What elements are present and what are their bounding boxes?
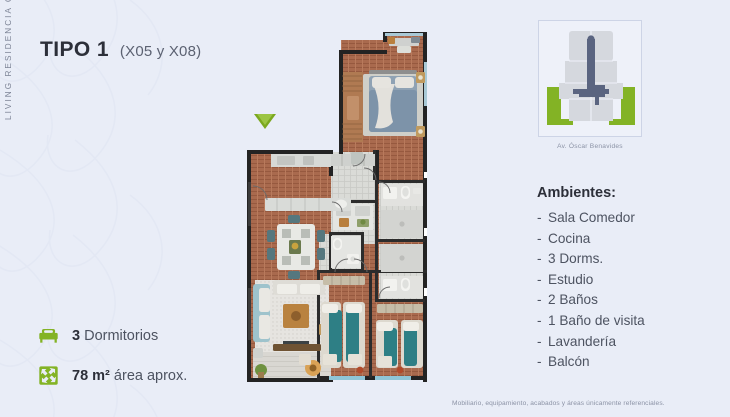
ambientes-list: -Sala Comedor -Cocina -3 Dorms. -Estudio… — [537, 208, 645, 373]
page-title: TIPO 1 (X05 y X08) — [40, 38, 201, 62]
building-footprint-diagram — [543, 25, 639, 133]
ambientes-panel: Ambientes: -Sala Comedor -Cocina -3 Dorm… — [537, 185, 645, 373]
ambientes-item: -3 Dorms. — [537, 249, 645, 270]
feature-area: 78 m² área aprox. — [38, 365, 187, 386]
floor-plan-sheet: LIVING RESIDENCIA CLUB - CERCADO DE LIMA… — [0, 0, 730, 417]
ambientes-item: -1 Baño de visita — [537, 311, 645, 332]
list-dash: - — [537, 249, 548, 270]
feature-bedrooms: 3 Dormitorios — [38, 325, 187, 346]
ambientes-item: -Balcón — [537, 352, 645, 373]
feature-area-text: 78 m² área aprox. — [72, 368, 187, 384]
ambientes-item: -Estudio — [537, 270, 645, 291]
ambientes-item-label: 1 Baño de visita — [548, 313, 645, 328]
disclaimer-text: Mobiliario, equipamiento, acabados y áre… — [452, 400, 665, 407]
ambientes-item-label: 2 Baños — [548, 292, 598, 307]
apartment-floor-plan — [243, 32, 458, 390]
bed-icon — [38, 325, 59, 346]
list-dash: - — [537, 352, 548, 373]
feature-summary-list: 3 Dormitorios 78 m² área aprox. — [38, 325, 187, 405]
ambientes-item-label: Balcón — [548, 354, 590, 369]
feature-bedrooms-value: 3 — [72, 328, 80, 344]
ambientes-item-label: Cocina — [548, 231, 590, 246]
feature-bedrooms-label: Dormitorios — [84, 328, 158, 344]
feature-area-value: 78 m² — [72, 368, 110, 384]
area-arrows-icon — [38, 365, 59, 386]
keyplan-frame — [538, 20, 642, 137]
ambientes-item: -Sala Comedor — [537, 208, 645, 229]
ambientes-item: -2 Baños — [537, 290, 645, 311]
vertical-project-caption: LIVING RESIDENCIA CLUB - CERCADO DE LIMA — [4, 0, 13, 120]
ambientes-title: Ambientes: — [537, 185, 645, 201]
ambientes-item-label: Estudio — [548, 272, 593, 287]
keyplan: Av. Óscar Benavides — [538, 20, 642, 150]
list-dash: - — [537, 229, 548, 250]
feature-area-label: área aprox. — [114, 368, 187, 384]
list-dash: - — [537, 208, 548, 229]
title-main: TIPO 1 — [40, 38, 109, 62]
list-dash: - — [537, 270, 548, 291]
feature-bedrooms-text: 3 Dormitorios — [72, 328, 158, 344]
title-subtitle: (X05 y X08) — [120, 43, 201, 60]
ambientes-item-label: Lavandería — [548, 334, 616, 349]
ambientes-item: -Cocina — [537, 229, 645, 250]
ambientes-item-label: Sala Comedor — [548, 210, 635, 225]
list-dash: - — [537, 311, 548, 332]
ambientes-item: -Lavandería — [537, 332, 645, 353]
ambientes-item-label: 3 Dorms. — [548, 251, 603, 266]
list-dash: - — [537, 290, 548, 311]
keyplan-caption: Av. Óscar Benavides — [538, 143, 642, 150]
list-dash: - — [537, 332, 548, 353]
